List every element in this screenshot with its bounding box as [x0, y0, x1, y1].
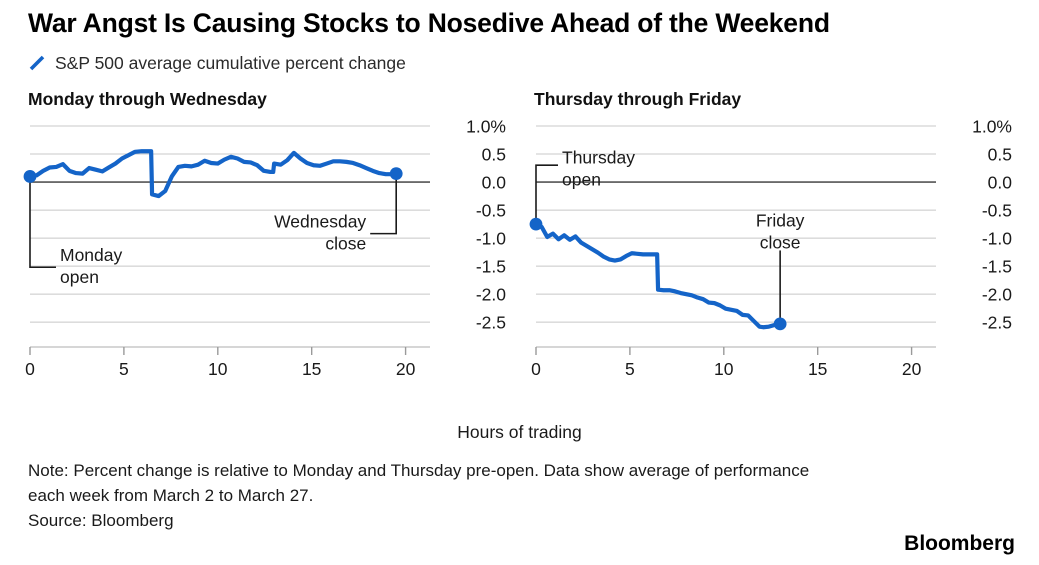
- x-axis-tick-label: 15: [302, 359, 321, 379]
- y-axis-tick-label: 0.0: [482, 173, 507, 193]
- chart-thursday-through-friday: 1.0%0.50.0-0.5-1.0-1.5-2.0-2.505101520Th…: [522, 112, 1022, 397]
- svg-text:close: close: [325, 233, 366, 253]
- y-axis-tick-label: -2.5: [476, 313, 506, 333]
- chart-page: War Angst Is Causing Stocks to Nosedive …: [0, 0, 1039, 565]
- svg-text:open: open: [60, 267, 99, 287]
- friday-close-marker: [774, 317, 787, 330]
- x-axis-tick-label: 15: [808, 359, 827, 379]
- y-axis-tick-label: -1.0: [476, 229, 506, 249]
- bloomberg-brand: Bloomberg: [904, 532, 1015, 556]
- x-axis-tick-label: 5: [119, 359, 129, 379]
- x-axis-tick-label: 0: [531, 359, 541, 379]
- y-axis-tick-label: -2.5: [982, 313, 1012, 333]
- legend-label: S&P 500 average cumulative percent chang…: [55, 52, 406, 74]
- x-axis-tick-label: 5: [625, 359, 635, 379]
- monday-open-annotation: Mondayopen: [30, 176, 123, 286]
- data-line-series: [536, 224, 780, 327]
- chart-svg: 1.0%0.50.0-0.5-1.0-1.5-2.0-2.505101520Mo…: [16, 112, 516, 397]
- panel-title-right: Thursday through Friday: [534, 88, 741, 110]
- y-axis-tick-label: 1.0%: [466, 117, 506, 137]
- monday-open-marker: [24, 170, 37, 183]
- y-axis-tick-label: 0.5: [988, 145, 1012, 165]
- y-axis-tick-label: -2.0: [982, 285, 1012, 305]
- y-axis-tick-label: -0.5: [982, 201, 1012, 221]
- x-axis-tick-label: 10: [208, 359, 228, 379]
- x-axis-title: Hours of trading: [0, 422, 1039, 443]
- chart-monday-through-wednesday: 1.0%0.50.0-0.5-1.0-1.5-2.0-2.505101520Mo…: [16, 112, 516, 397]
- friday-close-annotation: Fridayclose: [756, 210, 805, 323]
- svg-text:Thursday: Thursday: [562, 147, 635, 167]
- svg-text:Friday: Friday: [756, 210, 805, 230]
- wednesday-close-annotation: Wednesdayclose: [274, 174, 396, 254]
- svg-text:Monday: Monday: [60, 245, 123, 265]
- note-line-1: Note: Percent change is relative to Mond…: [28, 458, 988, 483]
- y-axis-tick-label: -1.5: [476, 257, 506, 277]
- wednesday-close-marker: [390, 167, 403, 180]
- y-axis-tick-label: -2.0: [476, 285, 506, 305]
- y-axis-tick-label: 1.0%: [972, 117, 1012, 137]
- y-axis-tick-label: -1.5: [982, 257, 1012, 277]
- legend: S&P 500 average cumulative percent chang…: [28, 52, 406, 74]
- svg-text:Wednesday: Wednesday: [274, 211, 366, 231]
- thursday-open-annotation: Thursdayopen: [536, 147, 635, 224]
- x-axis-tick-label: 0: [25, 359, 35, 379]
- y-axis-tick-label: 0.0: [988, 173, 1013, 193]
- y-axis-tick-label: -0.5: [476, 201, 506, 221]
- note-line-2: each week from March 2 to March 27.: [28, 483, 988, 508]
- data-line-series: [30, 151, 396, 196]
- y-axis-tick-label: 0.5: [482, 145, 506, 165]
- svg-text:open: open: [562, 169, 601, 189]
- svg-text:close: close: [760, 232, 801, 252]
- source-line: Source: Bloomberg: [28, 508, 988, 533]
- line-swatch-icon: [28, 54, 46, 72]
- footnotes: Note: Percent change is relative to Mond…: [28, 458, 988, 533]
- page-title: War Angst Is Causing Stocks to Nosedive …: [28, 6, 1013, 40]
- y-axis-tick-label: -1.0: [982, 229, 1012, 249]
- x-axis-tick-label: 10: [714, 359, 734, 379]
- thursday-open-marker: [530, 218, 543, 231]
- x-axis-tick-label: 20: [396, 359, 416, 379]
- x-axis-tick-label: 20: [902, 359, 922, 379]
- chart-svg: 1.0%0.50.0-0.5-1.0-1.5-2.0-2.505101520Th…: [522, 112, 1022, 397]
- panel-title-left: Monday through Wednesday: [28, 88, 267, 110]
